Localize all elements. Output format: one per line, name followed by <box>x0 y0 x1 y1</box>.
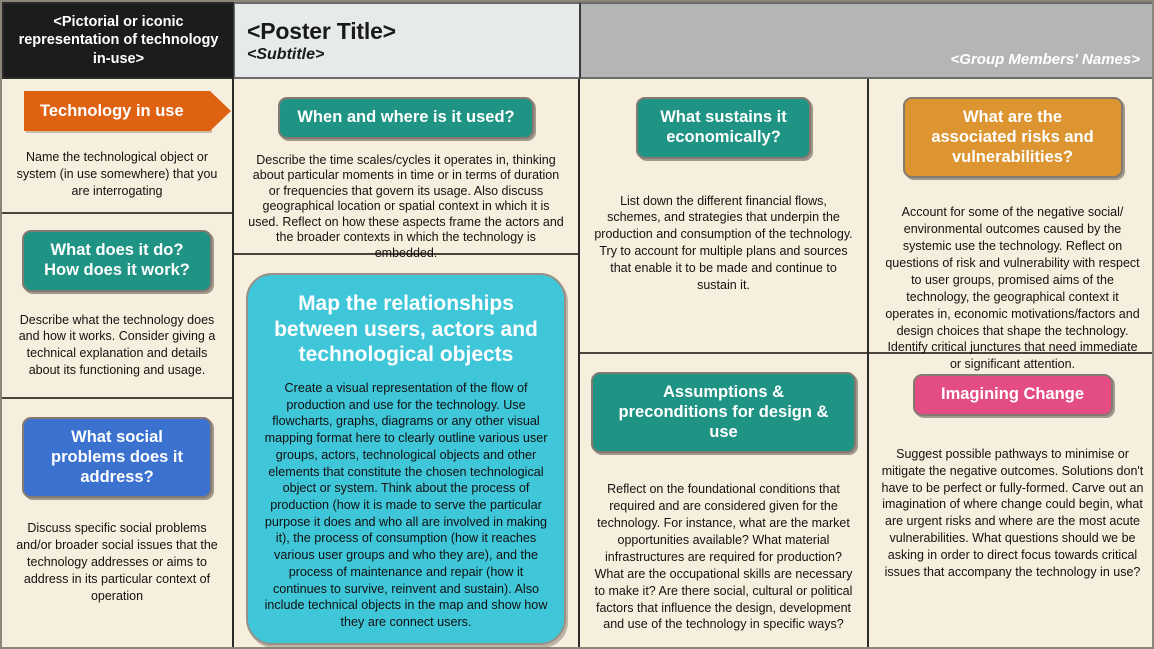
banner-social-problems-label: What social problems does it address? <box>51 428 183 486</box>
column-2: When and where is it used? Describe the … <box>234 79 580 649</box>
header-title-block[interactable]: <Poster Title> <Subtitle> <box>234 2 580 79</box>
text-technology-in-use: Name the technological object or system … <box>14 149 220 200</box>
poster-body-grid: Technology in use Name the technological… <box>2 79 1154 649</box>
banner-when-and-where-label: When and where is it used? <box>297 108 514 126</box>
group-members-label: <Group Members' Names> <box>951 51 1140 68</box>
cell-when-and-where[interactable]: When and where is it used? Describe the … <box>234 79 578 255</box>
header-icon-placeholder-label: <Pictorial or iconic representation of t… <box>12 13 225 69</box>
banner-what-does-it-do-label: What does it do? How does it work? <box>44 241 190 279</box>
banner-sustains-economically[interactable]: What sustains it economically? <box>636 97 811 159</box>
text-when-and-where: Describe the time scales/cycles it opera… <box>246 153 566 262</box>
cell-sustains-economically[interactable]: What sustains it economically? List down… <box>580 79 867 354</box>
text-what-does-it-do: Describe what the technology does and ho… <box>14 312 220 380</box>
text-assumptions-preconditions: Reflect on the foundational conditions t… <box>592 481 855 633</box>
banner-risks-vulnerabilities-label: What are the associated risks and vulner… <box>931 108 1093 166</box>
cell-social-problems[interactable]: What social problems does it address? Di… <box>2 399 232 649</box>
banner-sustains-economically-label: What sustains it economically? <box>660 108 787 146</box>
cell-imagining-change[interactable]: Imagining Change Suggest possible pathwa… <box>869 354 1154 649</box>
banner-imagining-change-label: Imagining Change <box>941 385 1084 403</box>
banner-imagining-change[interactable]: Imagining Change <box>913 374 1113 416</box>
column-3: What sustains it economically? List down… <box>580 79 869 649</box>
banner-technology-in-use[interactable]: Technology in use <box>24 91 210 131</box>
map-relationships-title: Map the relationships between users, act… <box>264 291 548 368</box>
text-imagining-change: Suggest possible pathways to minimise or… <box>881 446 1144 581</box>
page-subtitle: <Subtitle> <box>247 46 567 64</box>
cell-risks-vulnerabilities[interactable]: What are the associated risks and vulner… <box>869 79 1154 354</box>
cell-map-relationships[interactable]: Map the relationships between users, act… <box>234 255 578 649</box>
cell-assumptions-preconditions[interactable]: Assumptions & preconditions for design &… <box>580 354 867 649</box>
column-1: Technology in use Name the technological… <box>2 79 234 649</box>
text-social-problems: Discuss specific social problems and/or … <box>14 520 220 604</box>
banner-social-problems[interactable]: What social problems does it address? <box>22 417 212 498</box>
banner-assumptions-preconditions-label: Assumptions & preconditions for design &… <box>619 383 829 441</box>
header-group-members-block[interactable]: <Group Members' Names> <box>580 2 1154 79</box>
page-title: <Poster Title> <box>247 19 567 44</box>
cell-what-does-it-do[interactable]: What does it do? How does it work? Descr… <box>2 214 232 399</box>
text-risks-vulnerabilities: Account for some of the negative social/… <box>881 204 1144 373</box>
map-relationships-text: Create a visual representation of the fl… <box>264 380 548 631</box>
banner-risks-vulnerabilities[interactable]: What are the associated risks and vulner… <box>903 97 1123 178</box>
text-sustains-economically: List down the different financial flows,… <box>592 193 855 294</box>
cell-technology-in-use[interactable]: Technology in use Name the technological… <box>2 79 232 214</box>
header-icon-placeholder[interactable]: <Pictorial or iconic representation of t… <box>2 2 234 79</box>
banner-technology-in-use-label: Technology in use <box>40 102 184 121</box>
banner-what-does-it-do[interactable]: What does it do? How does it work? <box>22 230 212 292</box>
column-4: What are the associated risks and vulner… <box>869 79 1154 649</box>
poster-canvas: <Pictorial or iconic representation of t… <box>0 0 1154 649</box>
poster-header: <Pictorial or iconic representation of t… <box>2 2 1154 79</box>
banner-assumptions-preconditions[interactable]: Assumptions & preconditions for design &… <box>591 372 856 453</box>
map-relationships-box[interactable]: Map the relationships between users, act… <box>246 273 566 645</box>
banner-when-and-where[interactable]: When and where is it used? <box>278 97 534 139</box>
